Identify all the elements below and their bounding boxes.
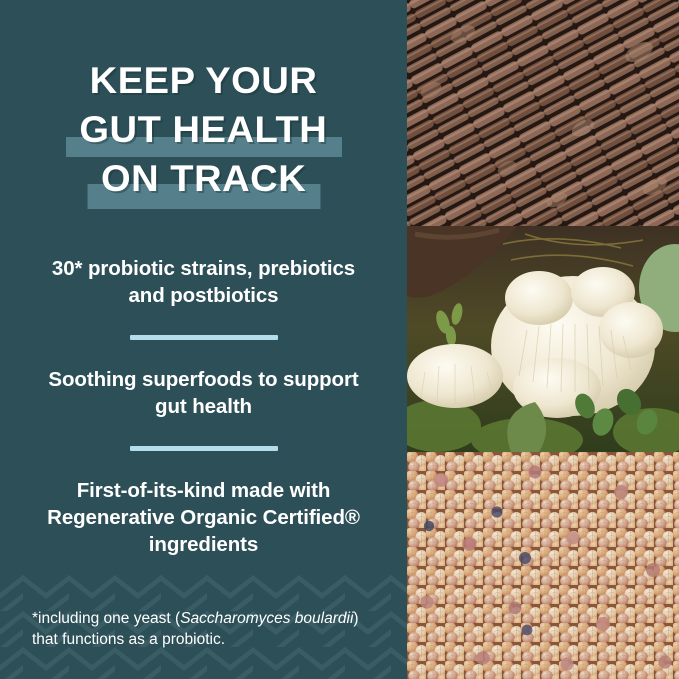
headline-line-3-text: ON TRACK [101, 160, 306, 197]
headline-line-2-text: GUT HEALTH [80, 111, 328, 148]
left-content-panel: KEEP YOUR GUT HEALTH ON TRACK 30* probio… [0, 0, 407, 679]
benefit-divider-2 [130, 446, 278, 451]
product-infographic: KEEP YOUR GUT HEALTH ON TRACK 30* probio… [0, 0, 679, 679]
footnote-prefix: *including one yeast ( [32, 610, 180, 627]
benefit-item-3: First-of-its-kind made with Regenerative… [0, 477, 407, 558]
benefit-item-1: 30* probiotic strains, prebiotics and po… [0, 255, 407, 309]
photo-coriander-seeds [407, 452, 679, 679]
headline-line-1-text: KEEP YOUR [90, 62, 318, 99]
benefit-divider-1 [130, 335, 278, 340]
headline-line-1: KEEP YOUR [0, 62, 407, 102]
ingredient-photo-column [407, 0, 679, 679]
footnote-species-name: Saccharomyces boulardii [180, 610, 353, 627]
benefit-item-2: Soothing superfoods to support gut healt… [0, 366, 407, 420]
headline-line-2: GUT HEALTH [0, 111, 407, 151]
footnote: *including one yeast (Saccharomyces boul… [32, 608, 372, 651]
photo-lions-mane-mushrooms [407, 226, 679, 452]
benefits-list: 30* probiotic strains, prebiotics and po… [0, 255, 407, 558]
headline-block: KEEP YOUR GUT HEALTH ON TRACK [0, 62, 407, 209]
photo-dried-licorice-roots [407, 0, 679, 226]
headline-line-3: ON TRACK [0, 160, 407, 200]
